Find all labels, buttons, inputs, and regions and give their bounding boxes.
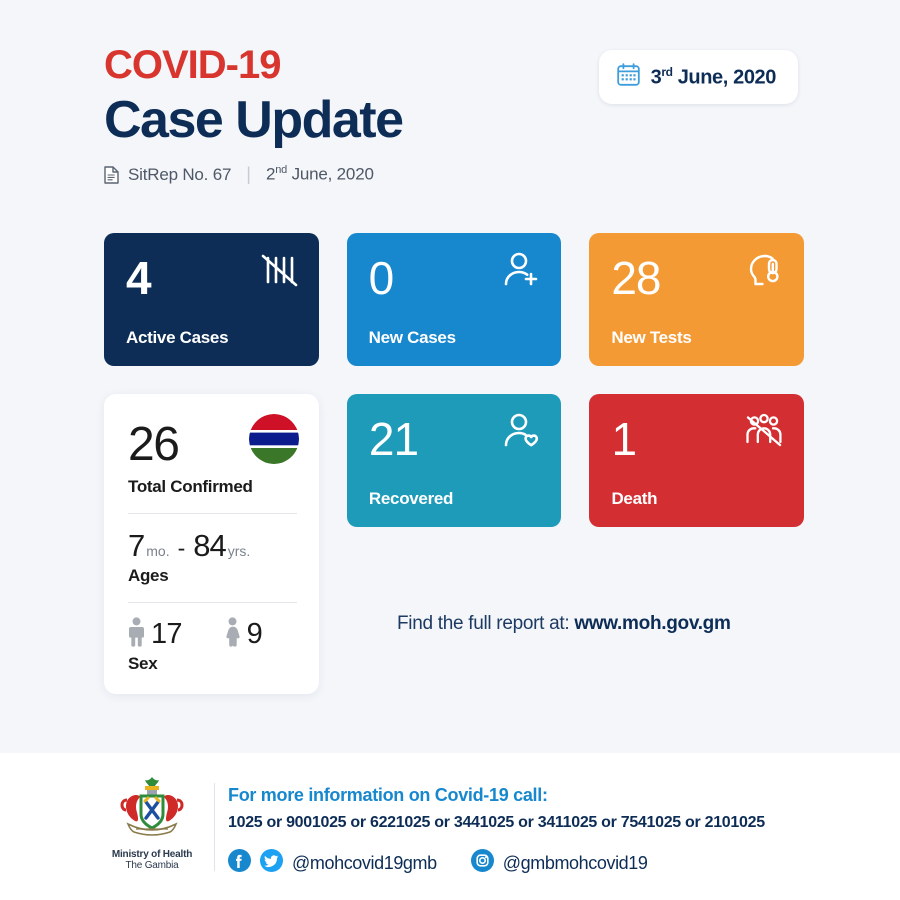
country-name: The Gambia xyxy=(98,860,206,871)
sitrep-separator: | xyxy=(246,164,251,185)
sitrep-date-rest: June, 2020 xyxy=(287,165,374,184)
title-block: COVID-19 Case Update SitRep No. 67 | 2nd… xyxy=(104,42,403,185)
report-url[interactable]: www.moh.gov.gm xyxy=(574,613,730,634)
date-badge-rest: June, 2020 xyxy=(673,66,776,88)
report-prefix: Find the full report at: xyxy=(397,613,574,634)
new-tests-label: New Tests xyxy=(611,328,784,348)
stats-row-bottom: 26 Total Confirmed 7 mo. - 84 yrs. Ages xyxy=(104,394,804,694)
person-heart-icon xyxy=(498,410,544,452)
card-death[interactable]: 1 Death xyxy=(589,394,804,527)
card-new-tests[interactable]: 28 New Tests xyxy=(589,233,804,366)
recovered-label: Recovered xyxy=(369,489,542,509)
person-plus-icon xyxy=(498,249,544,291)
page-title-main: Case Update xyxy=(104,90,403,150)
footer-divider xyxy=(214,783,215,871)
card-recovered[interactable]: 21 Recovered xyxy=(347,394,562,527)
age-max-value: 84 xyxy=(193,528,225,564)
people-slash-icon xyxy=(741,410,787,452)
sitrep-date-ordinal: nd xyxy=(275,164,287,176)
date-badge-day: 3 xyxy=(651,66,662,88)
divider-2 xyxy=(128,602,297,603)
ig-handle[interactable]: @gmbmohcovid19 xyxy=(503,853,648,874)
sex-values: 17 9 xyxy=(128,617,297,652)
new-cases-label: New Cases xyxy=(369,328,542,348)
sitrep-date-day: 2 xyxy=(266,165,275,184)
ministry-logo: Ministry of Health The Gambia xyxy=(98,775,206,871)
card-total-confirmed[interactable]: 26 Total Confirmed 7 mo. - 84 yrs. Ages xyxy=(104,394,319,694)
sitrep-label: SitRep No. 67 xyxy=(128,165,231,185)
twitter-icon[interactable] xyxy=(260,849,283,877)
total-confirmed-label: Total Confirmed xyxy=(128,477,297,497)
document-icon xyxy=(104,166,119,184)
active-cases-label: Active Cases xyxy=(126,328,299,348)
footer-contact: For more information on Covid-19 call: 1… xyxy=(228,785,765,877)
ministry-name: Ministry of Health xyxy=(98,849,206,860)
footer: Ministry of Health The Gambia For more i… xyxy=(0,753,900,900)
age-min-value: 7 xyxy=(128,528,144,564)
report-line: Find the full report at: www.moh.gov.gm xyxy=(397,613,731,635)
call-numbers: 1025 or 9001025 or 6221025 or 3441025 or… xyxy=(228,814,765,832)
sex-male: 17 xyxy=(128,617,182,652)
date-badge[interactable]: 3rd June, 2020 xyxy=(599,50,798,104)
tally-marks-icon xyxy=(256,249,302,291)
infographic-page: COVID-19 Case Update SitRep No. 67 | 2nd… xyxy=(0,0,900,900)
gambia-coat-of-arms-icon xyxy=(114,828,190,845)
age-range-dash: - xyxy=(178,535,186,562)
gambia-flag-icon xyxy=(249,414,299,464)
facebook-icon[interactable] xyxy=(228,849,251,877)
female-figure-icon xyxy=(224,617,241,652)
age-max-unit: yrs. xyxy=(228,543,251,559)
head-thermometer-icon xyxy=(741,249,787,291)
calendar-icon xyxy=(617,63,640,91)
header: COVID-19 Case Update SitRep No. 67 | 2nd… xyxy=(0,0,900,210)
ages-label: Ages xyxy=(128,566,297,586)
female-count: 9 xyxy=(247,618,262,651)
sitrep-date: 2nd June, 2020 xyxy=(266,164,374,185)
date-badge-label: 3rd June, 2020 xyxy=(651,65,776,90)
instagram-icon[interactable] xyxy=(471,849,494,877)
card-active-cases[interactable]: 4 Active Cases xyxy=(104,233,319,366)
card-new-cases[interactable]: 0 New Cases xyxy=(347,233,562,366)
sex-female: 9 xyxy=(224,617,262,652)
age-min-unit: mo. xyxy=(146,543,169,559)
fb-tw-handle[interactable]: @mohcovid19gmb xyxy=(292,853,437,874)
sex-label: Sex xyxy=(128,654,297,674)
stats-row-top: 4 Active Cases 0 New Cases xyxy=(104,233,804,366)
male-figure-icon xyxy=(128,617,145,652)
male-count: 17 xyxy=(151,618,182,651)
social-row: @mohcovid19gmb @gmbmohcovid19 xyxy=(228,849,765,877)
sitrep-row: SitRep No. 67 | 2nd June, 2020 xyxy=(104,164,403,185)
ages-values: 7 mo. - 84 yrs. xyxy=(128,528,297,564)
call-heading: For more information on Covid-19 call: xyxy=(228,785,765,806)
divider-1 xyxy=(128,513,297,514)
date-badge-ordinal: rd xyxy=(661,65,672,79)
death-label: Death xyxy=(611,489,784,509)
page-title-covid: COVID-19 xyxy=(104,42,403,88)
